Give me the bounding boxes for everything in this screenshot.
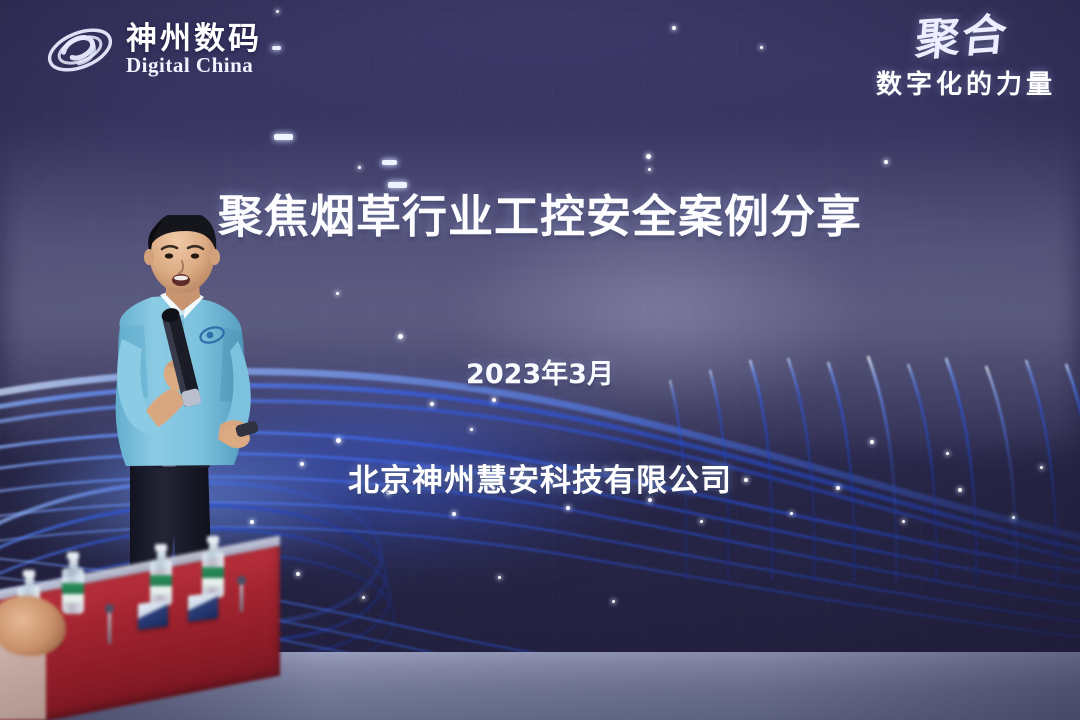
- name-card: [138, 600, 168, 630]
- water-bottle: [202, 536, 224, 598]
- table-microphone-head: [105, 604, 114, 613]
- table-microphone: [108, 610, 111, 644]
- table-microphone: [240, 582, 243, 612]
- name-card: [188, 592, 218, 622]
- water-bottle: [62, 552, 84, 614]
- water-bottle: [150, 544, 172, 606]
- conference-stage-photo: 神州数码 Digital China 聚合 数字化的力量 聚焦烟草行业工控安全案…: [0, 0, 1080, 720]
- table-microphone-head: [237, 576, 246, 585]
